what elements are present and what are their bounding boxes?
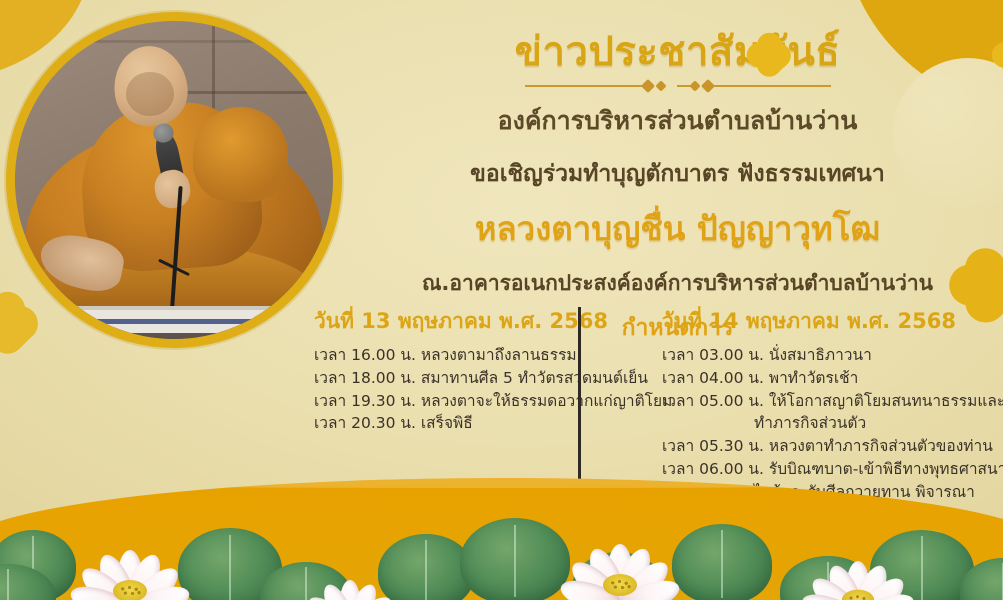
organization-name: องค์การบริหารส่วนตำบลบ้านว่าน bbox=[352, 101, 1003, 141]
schedule-row-text: เวลา 06.00 น. รับบิณฑบาต-เข้าพิธีทางพุทธ… bbox=[662, 460, 1003, 478]
day2-heading: วันที่ 14 พฤษภาคม พ.ศ. 2568 bbox=[662, 305, 1003, 338]
lotus-flower bbox=[301, 560, 399, 600]
monk-photo-frame bbox=[6, 12, 342, 348]
lotus-border-band bbox=[0, 478, 1003, 600]
poster-canvas: ข่าวประชาสัมพันธ์ องค์การบริหารส่วนตำบลบ… bbox=[0, 0, 1003, 600]
schedule-row: เวลา 04.00 น. พาทำวัตรเช้า bbox=[662, 367, 1003, 390]
quatrefoil-ornament-title-right bbox=[992, 33, 1003, 77]
column-divider bbox=[578, 307, 581, 497]
monk-shoulder bbox=[193, 107, 288, 202]
schedule-row: เวลา 20.30 น. เสร็จพิธี bbox=[296, 412, 644, 435]
venue-text: ณ.อาคารอเนกประสงค์องค์การบริหารส่วนตำบลบ… bbox=[352, 267, 1003, 300]
lotus-leaf bbox=[460, 518, 570, 600]
schedule-column-day1: วันที่ 13 พฤษภาคม พ.ศ. 2568 เวลา 16.00 น… bbox=[292, 305, 644, 505]
schedule-row-continuation: ทำภารกิจส่วนตัว bbox=[662, 412, 1003, 435]
schedule-column-day2: วันที่ 14 พฤษภาคม พ.ศ. 2568 เวลา 03.00 น… bbox=[644, 305, 1003, 505]
lotus-flower bbox=[801, 538, 915, 600]
lotus-flower bbox=[560, 520, 680, 600]
photo-floor-mat bbox=[34, 306, 314, 332]
monk-name: หลวงตาบุญชื่น ปัญญาวุทโฒ bbox=[352, 202, 1003, 255]
schedule-row: เวลา 05.30 น. หลวงตาทำภารกิจส่วนตัวของท่… bbox=[662, 435, 1003, 458]
invitation-text: ขอเชิญร่วมทำบุญตักบาตร ฟังธรรมเทศนา bbox=[352, 156, 1003, 192]
schedule-row-text: เวลา 05.00 น. ให้โอกาสญาติโยมสนทนาธรรมแล… bbox=[662, 392, 1003, 410]
lotus-leaf bbox=[672, 524, 772, 600]
monk-face-shadow bbox=[126, 72, 174, 117]
monk-photo bbox=[15, 21, 333, 339]
schedule-row: เวลา 03.00 น. นั่งสมาธิภาวนา bbox=[662, 344, 1003, 367]
schedule-row: เวลา 19.30 น. หลวงตาจะให้ธรรมดอวากแก่ญาต… bbox=[296, 390, 644, 413]
schedule-row: เวลา 05.00 น. ให้โอกาสญาติโยมสนทนาธรรมแล… bbox=[662, 390, 1003, 436]
lotus-flower bbox=[70, 526, 190, 600]
day1-heading: วันที่ 13 พฤษภาคม พ.ศ. 2568 bbox=[296, 305, 644, 338]
title-row: ข่าวประชาสัมพันธ์ bbox=[352, 26, 1003, 76]
title-divider bbox=[525, 79, 831, 93]
poster-content: ข่าวประชาสัมพันธ์ องค์การบริหารส่วนตำบลบ… bbox=[352, 0, 1003, 500]
quatrefoil-ornament-title-left bbox=[747, 33, 791, 77]
page-title: ข่าวประชาสัมพันธ์ bbox=[515, 19, 841, 83]
schedule-row: เวลา 18.00 น. สมาทานศีล 5 ทำวัตรสวดมนต์เ… bbox=[296, 367, 644, 390]
schedule-row: เวลา 16.00 น. หลวงตามาถึงลานธรรม bbox=[296, 344, 644, 367]
schedule-section: วันที่ 13 พฤษภาคม พ.ศ. 2568 เวลา 16.00 น… bbox=[292, 305, 1003, 505]
